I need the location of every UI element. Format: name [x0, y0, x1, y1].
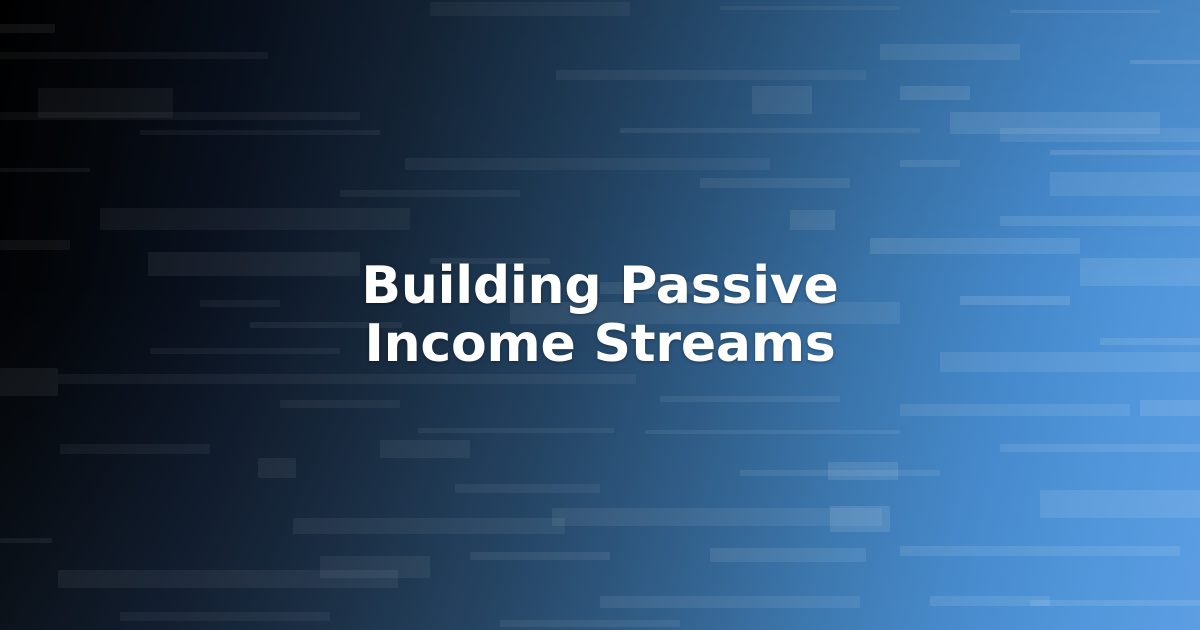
texture-stripe — [0, 538, 52, 543]
texture-stripe — [418, 428, 614, 433]
texture-stripe — [720, 6, 900, 10]
texture-stripe — [1050, 172, 1200, 196]
texture-stripe — [1080, 258, 1200, 286]
texture-stripe — [1010, 10, 1160, 13]
texture-stripe — [0, 368, 58, 396]
texture-stripe — [0, 168, 90, 172]
texture-stripe — [200, 300, 280, 307]
texture-stripe — [930, 596, 1050, 606]
texture-stripe — [1000, 216, 1200, 226]
texture-stripe — [600, 282, 695, 294]
texture-stripe — [58, 374, 636, 384]
texture-stripe — [340, 190, 520, 197]
texture-stripe — [960, 296, 1070, 305]
texture-stripe — [700, 178, 850, 188]
texture-stripe — [710, 548, 866, 562]
social-share-banner: Building Passive Income Streams — [0, 0, 1200, 630]
texture-stripe — [620, 128, 920, 133]
texture-stripe — [58, 570, 398, 588]
texture-stripe — [470, 552, 610, 560]
gradient-sheen-overlay — [0, 0, 1200, 630]
texture-stripe — [830, 506, 890, 532]
texture-stripe — [100, 208, 410, 230]
texture-stripe — [556, 70, 866, 80]
texture-stripe — [280, 400, 400, 408]
texture-stripe — [0, 24, 55, 33]
texture-stripe — [880, 44, 1020, 60]
texture-stripe — [940, 352, 1200, 372]
texture-stripe — [645, 430, 900, 434]
texture-stripe — [120, 612, 330, 621]
texture-stripe — [320, 556, 430, 578]
texture-stripe — [148, 252, 360, 276]
texture-stripe — [0, 240, 70, 250]
texture-stripe — [552, 508, 882, 526]
texture-stripe — [500, 620, 680, 627]
texture-stripe — [140, 130, 380, 135]
texture-stripe — [790, 210, 835, 230]
title-block: Building Passive Income Streams — [0, 0, 1200, 630]
texture-stripe — [870, 238, 1080, 254]
texture-stripe — [430, 258, 550, 264]
texture-stripe — [150, 348, 340, 354]
texture-stripe — [60, 444, 210, 454]
texture-stripe — [1000, 128, 1200, 142]
texture-stripe — [0, 52, 268, 59]
texture-stripe — [900, 160, 960, 167]
texture-stripe — [828, 462, 898, 480]
texture-stripe — [455, 484, 600, 493]
texture-stripe — [1100, 338, 1200, 345]
texture-stripe — [1040, 490, 1200, 518]
texture-stripe — [660, 396, 840, 402]
texture-stripe — [293, 518, 565, 534]
texture-stripe — [405, 158, 770, 170]
texture-stripe — [510, 302, 900, 324]
texture-stripe — [1140, 400, 1200, 416]
texture-stripe — [1000, 444, 1200, 452]
texture-stripe — [900, 404, 1130, 416]
texture-stripe — [950, 112, 1160, 134]
page-title: Building Passive Income Streams — [280, 257, 920, 373]
texture-stripe — [380, 440, 470, 458]
texture-stripe — [250, 322, 402, 328]
texture-stripe — [1050, 150, 1200, 155]
texture-stripe — [600, 596, 860, 608]
texture-stripe — [740, 470, 940, 476]
texture-stripe — [430, 2, 630, 16]
texture-stripe — [38, 88, 173, 118]
texture-stripe — [900, 86, 970, 100]
texture-stripe — [258, 458, 296, 478]
texture-stripe — [1130, 60, 1200, 64]
code-stripe-texture — [0, 0, 1200, 630]
texture-stripe — [0, 112, 360, 120]
texture-stripe — [900, 546, 1180, 556]
texture-stripe — [752, 86, 812, 114]
texture-stripe — [1030, 600, 1200, 606]
